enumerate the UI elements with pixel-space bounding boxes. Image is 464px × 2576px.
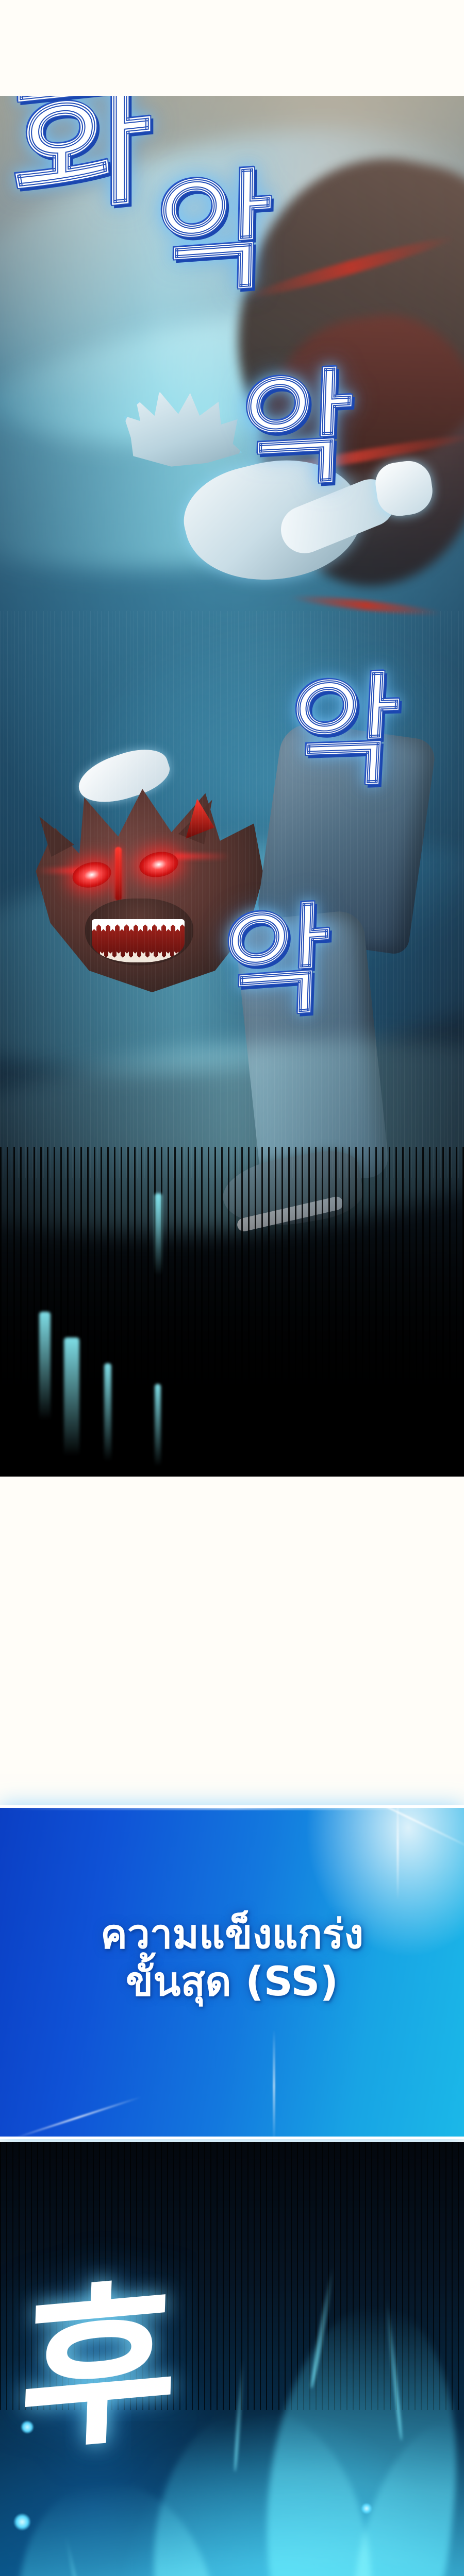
spark [13, 2513, 31, 2531]
glow-bar [155, 1193, 162, 1276]
banner-line-2: ขั้นสุด (SS) [0, 1958, 464, 2006]
panel-blue-flame-roar: 후 [0, 2142, 464, 2576]
sfx-ak-text: 악 [238, 371, 355, 488]
sfx-hu-text: 후 [18, 2284, 179, 2452]
banner-flare-vertical [397, 1805, 399, 1901]
banner-flare-vertical [273, 2029, 275, 2139]
glow-bar [155, 1384, 161, 1466]
glow-bar [104, 1363, 111, 1461]
banner-flare-diagonal [13, 2096, 141, 2139]
status-banner-text: ความแข็งแกร่ง ขั้นสุด (SS) [0, 1911, 464, 2006]
boy-hair [124, 389, 242, 477]
spark [361, 2503, 372, 2514]
banner-flare-diagonal [338, 1805, 464, 1852]
panel-kick-impact: 화 악 악 악 악 [0, 96, 464, 1477]
sfx-ak-text: 악 [220, 906, 333, 1021]
sfx-ak-text: 악 [286, 676, 403, 789]
banner-top-flare [0, 1808, 464, 1809]
glow-bar [39, 1312, 51, 1420]
status-banner-panel: ความแข็งแกร่ง ขั้นสุด (SS) [0, 1805, 464, 2139]
sfx-hwa-text: 화 [12, 96, 153, 218]
webtoon-page: 화 악 악 악 악 ความแข็งแกร่ง ขั้นสุด (SS) 후 [0, 0, 464, 2576]
glow-bar [64, 1337, 79, 1456]
banner-line-1: ความแข็งแกร่ง [0, 1911, 464, 1958]
sfx-ak-text: 악 [154, 172, 274, 296]
